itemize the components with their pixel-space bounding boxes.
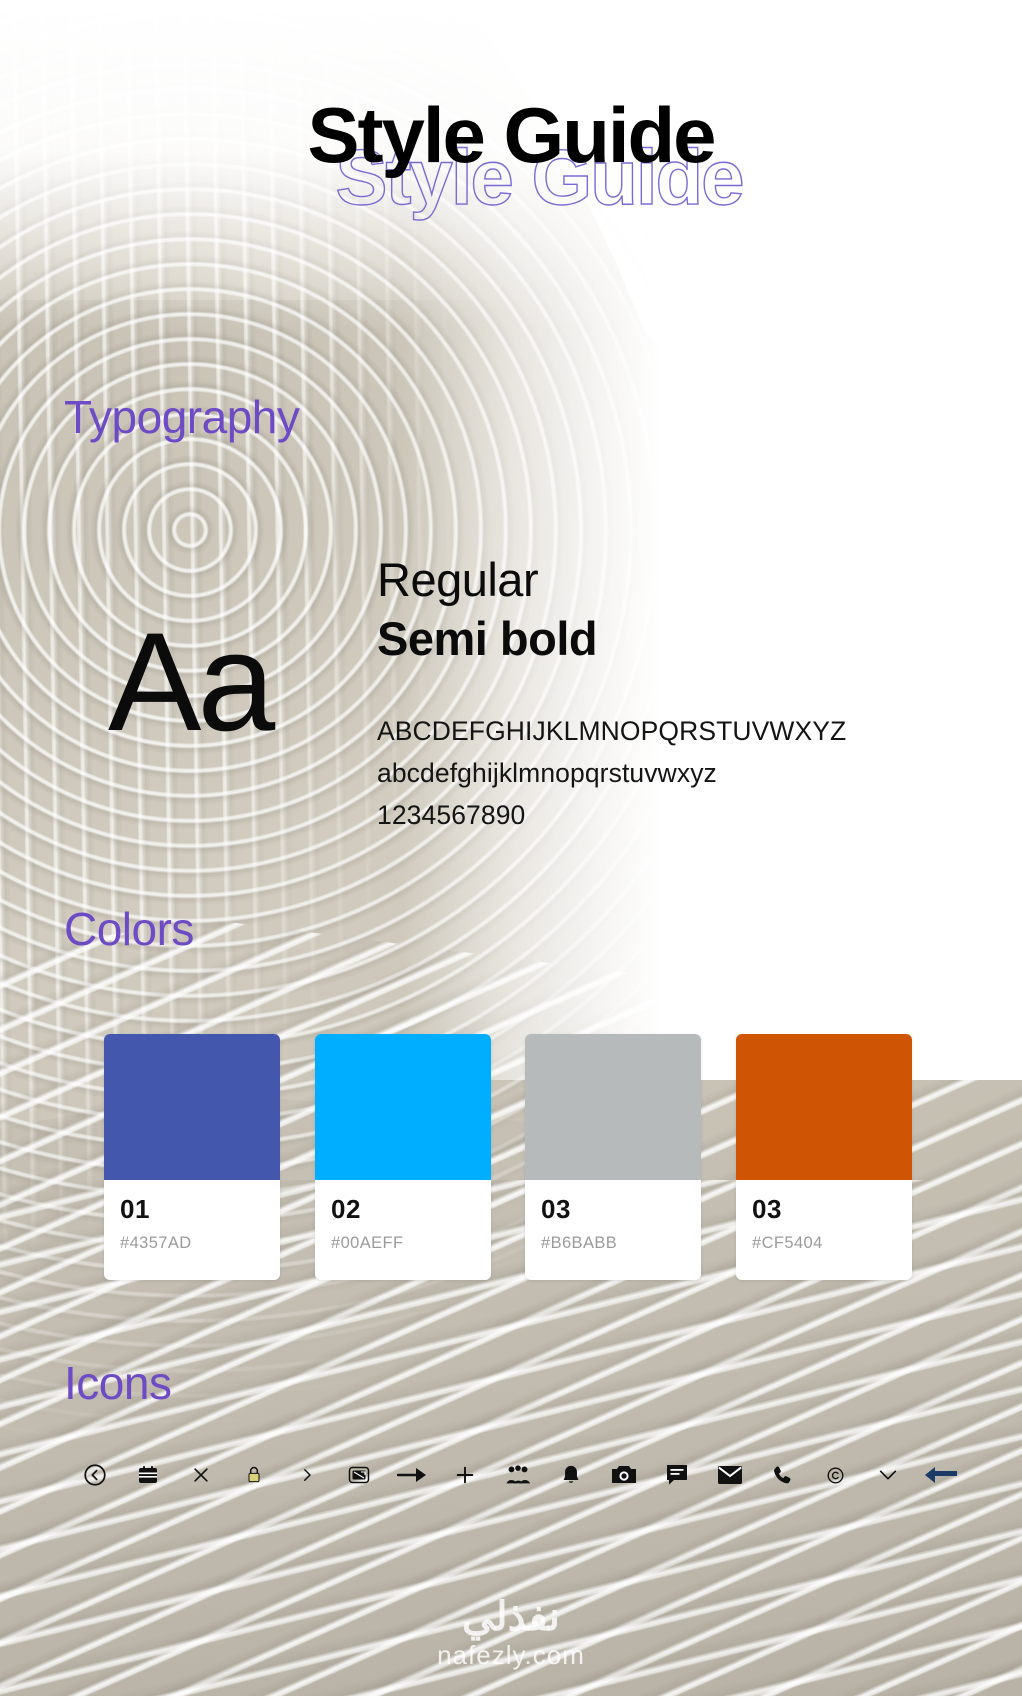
color-swatch[interactable]: 01 #4357AD [104,1034,280,1280]
typography-sample-aa: Aa [108,612,271,752]
background-texture [0,0,1022,1696]
swatch-hex: #B6BABB [541,1234,685,1253]
swatch-number: 03 [541,1196,685,1222]
bell-icon[interactable] [554,1458,588,1492]
color-swatch[interactable]: 02 #00AEFF [315,1034,491,1280]
weight-regular-label: Regular [377,552,937,607]
swatch-hex: #00AEFF [331,1234,475,1253]
swatch-number: 02 [331,1196,475,1222]
inbox-icon[interactable] [342,1458,376,1492]
chat-icon[interactable] [660,1458,694,1492]
flag-arrow-icon[interactable] [924,1458,958,1492]
glyphs-uppercase: ABCDEFGHIJKLMNOPQRSTUVWXYZ [377,711,937,753]
swatch-color-chip [104,1034,280,1180]
section-heading-icons: Icons [64,1356,171,1410]
chevron-down-icon[interactable] [871,1458,905,1492]
section-heading-typography: Typography [64,390,299,444]
color-swatch-list: 01 #4357AD 02 #00AEFF 03 #B6BABB [104,1034,922,1280]
swatch-color-chip [525,1034,701,1180]
glyphs-lowercase: abcdefghijklmnopqrstuvwxyz [377,753,937,795]
glyphs-numerals: 1234567890 [377,795,937,837]
swatch-color-chip [315,1034,491,1180]
mail-icon[interactable] [713,1458,747,1492]
copyright-icon[interactable] [818,1458,852,1492]
calendar-icon[interactable] [131,1458,165,1492]
swatch-hex: #CF5404 [752,1234,896,1253]
chevron-right-icon[interactable] [290,1458,324,1492]
glyph-set: ABCDEFGHIJKLMNOPQRSTUVWXYZ abcdefghijklm… [377,711,937,837]
swatch-hex: #4357AD [120,1234,264,1253]
back-circle-icon[interactable] [78,1458,112,1492]
phone-icon[interactable] [765,1458,799,1492]
weight-semibold-label: Semi bold [377,611,937,666]
arrow-right-icon[interactable] [395,1458,429,1492]
color-swatch[interactable]: 03 #B6BABB [525,1034,701,1280]
swatch-number: 03 [752,1196,896,1222]
close-icon[interactable] [184,1458,218,1492]
color-swatch[interactable]: 03 #CF5404 [736,1034,912,1280]
swatch-color-chip [736,1034,912,1180]
section-heading-colors: Colors [64,902,194,956]
swatch-number: 01 [120,1196,264,1222]
icon-set [78,1452,958,1498]
typography-details: Regular Semi bold ABCDEFGHIJKLMNOPQRSTUV… [377,552,937,836]
style-guide-page: Style Guide Style Guide Typography Aa Re… [0,0,1022,1696]
plus-icon[interactable] [448,1458,482,1492]
lock-icon[interactable] [237,1458,271,1492]
camera-icon[interactable] [607,1458,641,1492]
group-icon[interactable] [501,1458,535,1492]
page-title: Style Guide Style Guide [0,96,1022,174]
page-title-main: Style Guide [0,96,1022,174]
